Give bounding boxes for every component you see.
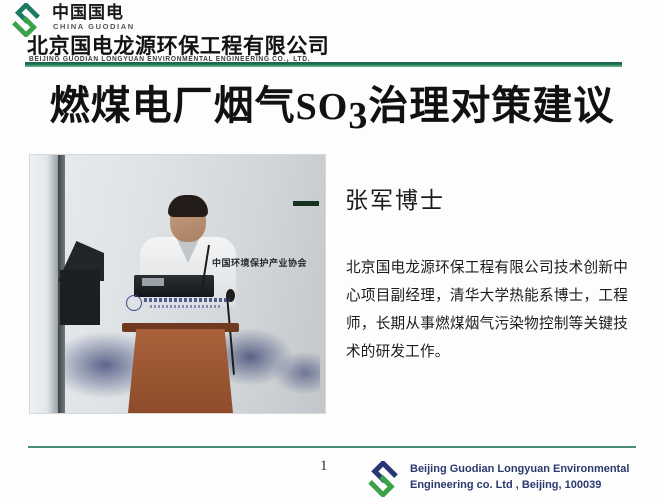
footer-company-line-2: Engineering co. Ltd , Beijing, 100039 — [410, 477, 660, 493]
footer-guodian-diamond-logo-icon — [364, 461, 402, 497]
photo-left-panel — [30, 155, 58, 413]
photo-podium — [128, 329, 233, 413]
slide-header: 中国国电 CHINA GUODIAN 北京国电龙源环保工程有限公司 BEIJIN… — [0, 0, 664, 62]
speaker-photo-illustration: 中国环境保护产业协会 — [30, 155, 325, 413]
footer-company-line-1: Beijing Guodian Longyuan Environmental — [410, 461, 660, 477]
photo-speaker-hair — [168, 195, 208, 217]
footer-company-address: Beijing Guodian Longyuan Environmental E… — [410, 461, 660, 493]
footer-divider-rule — [28, 446, 636, 448]
page-title-formula: SO — [296, 86, 349, 128]
brand-name-cn: 中国国电 — [52, 3, 124, 22]
photo-banner-subtitle-2 — [150, 305, 222, 308]
slide-root: 中国国电 CHINA GUODIAN 北京国电龙源环保工程有限公司 BEIJIN… — [0, 0, 664, 502]
photo-laptop-screen — [142, 278, 164, 286]
header-divider-rule — [25, 62, 622, 67]
page-title-formula-subscript: 3 — [348, 95, 368, 137]
speaker-photo: 中国环境保护产业协会 — [30, 155, 325, 413]
page-title-part2: 治理对策建议 — [368, 84, 614, 128]
photo-foreground-block — [60, 270, 100, 325]
page-title: 燃煤电厂烟气SO3治理对策建议 — [0, 80, 664, 142]
page-number: 1 — [320, 458, 328, 475]
speaker-bio: 北京国电龙源环保工程有限公司技术创新中心项目副经理，清华大学热能系博士，工程师，… — [346, 254, 628, 366]
photo-banner-emblem — [126, 295, 142, 311]
speaker-name: 张军博士 — [345, 181, 445, 215]
page-title-part1: 燃煤电厂烟气 — [50, 84, 296, 128]
photo-banner-text: 中国环境保护产业协会 — [212, 256, 307, 269]
photo-green-marker — [293, 201, 319, 206]
photo-banner-subtitle-1 — [144, 298, 230, 302]
